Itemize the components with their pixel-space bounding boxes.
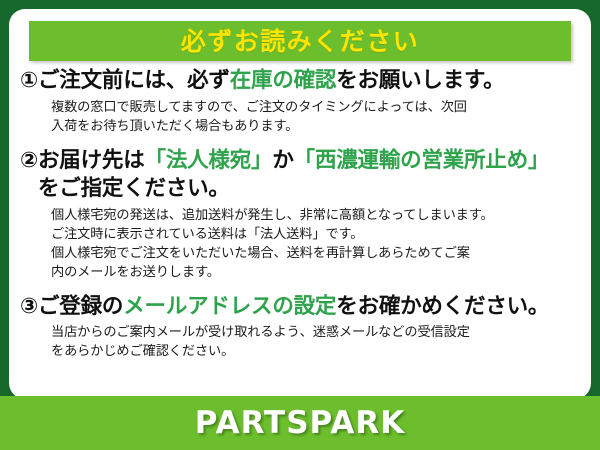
- notice-item-2-sub-line-4: 内のメールをお送りします。: [20, 263, 581, 282]
- notice-item-3-sub-line-1: 当店からのご案内メールが受け取れるよう、迷惑メールなどの受信設定: [20, 323, 581, 342]
- notice-panel: 必ずお読みください ①ご注文前には、必ず在庫の確認をお願いします。 複数の窓口で…: [9, 9, 591, 399]
- notice-item-1-heading: ①ご注文前には、必ず在庫の確認をお願いします。: [20, 67, 581, 96]
- notice-item-1: ①ご注文前には、必ず在庫の確認をお願いします。 複数の窓口で販売してますので、ご…: [20, 67, 581, 136]
- spacer-2: [20, 284, 581, 293]
- notice-item-2-sub-line-3: 個人様宅宛でご注文をいただいた場合、送料を再計算しあらためてご案: [20, 244, 581, 263]
- notice-content: ①ご注文前には、必ず在庫の確認をお願いします。 複数の窓口で販売してますので、ご…: [9, 67, 591, 363]
- notice-banner: 必ずお読みください ①ご注文前には、必ず在庫の確認をお願いします。 複数の窓口で…: [0, 0, 600, 450]
- notice-item-3-sub-line-2: をあらかじめご確認ください。: [20, 342, 581, 361]
- notice-item-2-heading-line2: をご指定ください。: [20, 175, 581, 204]
- notice-item-2: ②お届け先は「法人様宛」か「西濃運輸の営業所止め」 をご指定ください。 個人様宅…: [20, 147, 581, 282]
- notice-title-band: 必ずお読みください: [29, 21, 571, 61]
- notice-item-2-heading-part-1: ②お届け先は: [20, 148, 145, 173]
- notice-item-2-sub-line-2: ご注文時に表示されている送料は「法人送料」です。: [20, 225, 581, 244]
- notice-item-3-heading: ③ご登録のメールアドレスの設定をお確かめください。: [20, 293, 581, 322]
- notice-item-2-heading: ②お届け先は「法人様宛」か「西濃運輸の営業所止め」: [20, 147, 581, 176]
- notice-item-3: ③ご登録のメールアドレスの設定をお確かめください。 当店からのご案内メールが受け…: [20, 293, 581, 362]
- page-title: 必ずお読みください: [181, 29, 420, 54]
- notice-item-2-heading-highlight-1: 「法人様宛」: [145, 148, 273, 173]
- notice-item-2-heading-part-3: か: [272, 148, 293, 173]
- notice-item-3-heading-highlight: メールアドレスの設定: [123, 294, 336, 319]
- notice-item-1-heading-part-1: ①ご注文前には、必ず: [20, 68, 230, 93]
- notice-item-1-heading-part-3: をお願いします。: [336, 68, 504, 93]
- notice-item-3-heading-part-1: ③ご登録の: [20, 294, 123, 319]
- notice-item-2-sub-line-1: 個人様宅宛の発送は、追加送料が発生し、非常に高額となってしまいます。: [20, 206, 581, 225]
- notice-item-1-sub-line-2: 入荷をお待ち頂いただく場合もあります。: [20, 117, 581, 136]
- notice-item-1-sub-line-1: 複数の窓口で販売してますので、ご注文のタイミングによっては、次回: [20, 98, 581, 117]
- brand-name: PARTSPARK: [195, 408, 406, 439]
- notice-item-1-heading-highlight: 在庫の確認: [230, 68, 337, 93]
- notice-item-3-heading-part-3: をお確かめください。: [336, 294, 549, 319]
- notice-item-2-heading-highlight-2: 「西濃運輸の営業所止め」: [294, 148, 550, 173]
- brand-footer: PARTSPARK: [0, 396, 600, 450]
- spacer-1: [20, 138, 581, 147]
